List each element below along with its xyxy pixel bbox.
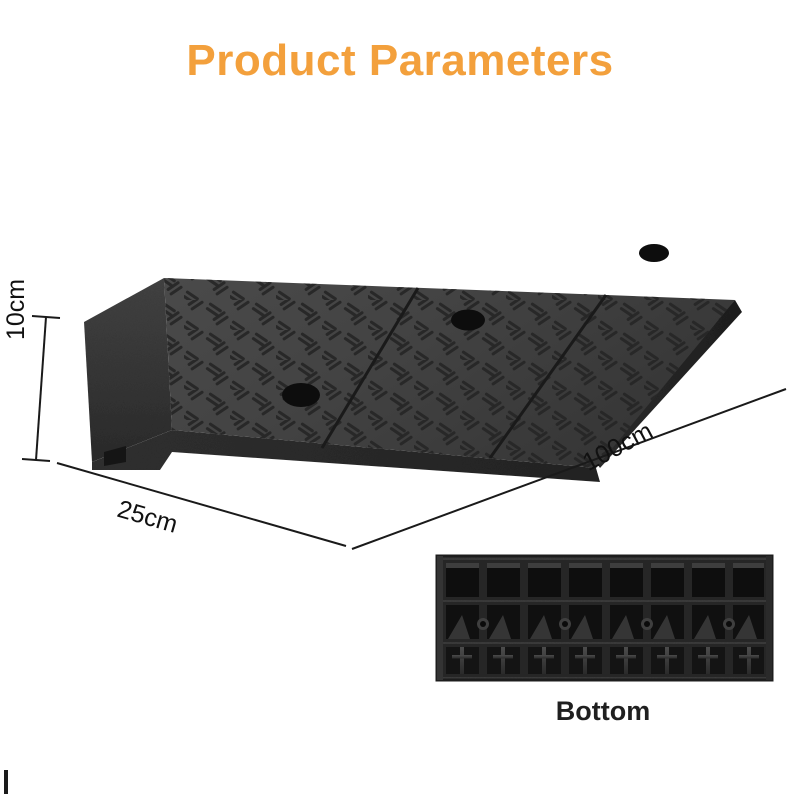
bottom-cell-row-1 — [441, 560, 768, 600]
corner-mark — [4, 770, 8, 794]
bottom-view-right-rail — [766, 556, 772, 680]
bottom-view-body — [437, 556, 772, 680]
dimension-label-height: 10cm — [2, 279, 31, 340]
bottom-view-left-rail — [437, 556, 443, 680]
bottom-view-illustration — [0, 0, 800, 800]
bottom-cell-row-2 — [441, 602, 768, 642]
product-parameters-page: Product Parameters — [0, 0, 800, 800]
bottom-view-caption: Bottom — [433, 696, 773, 727]
bottom-cell-row-3 — [441, 644, 768, 677]
